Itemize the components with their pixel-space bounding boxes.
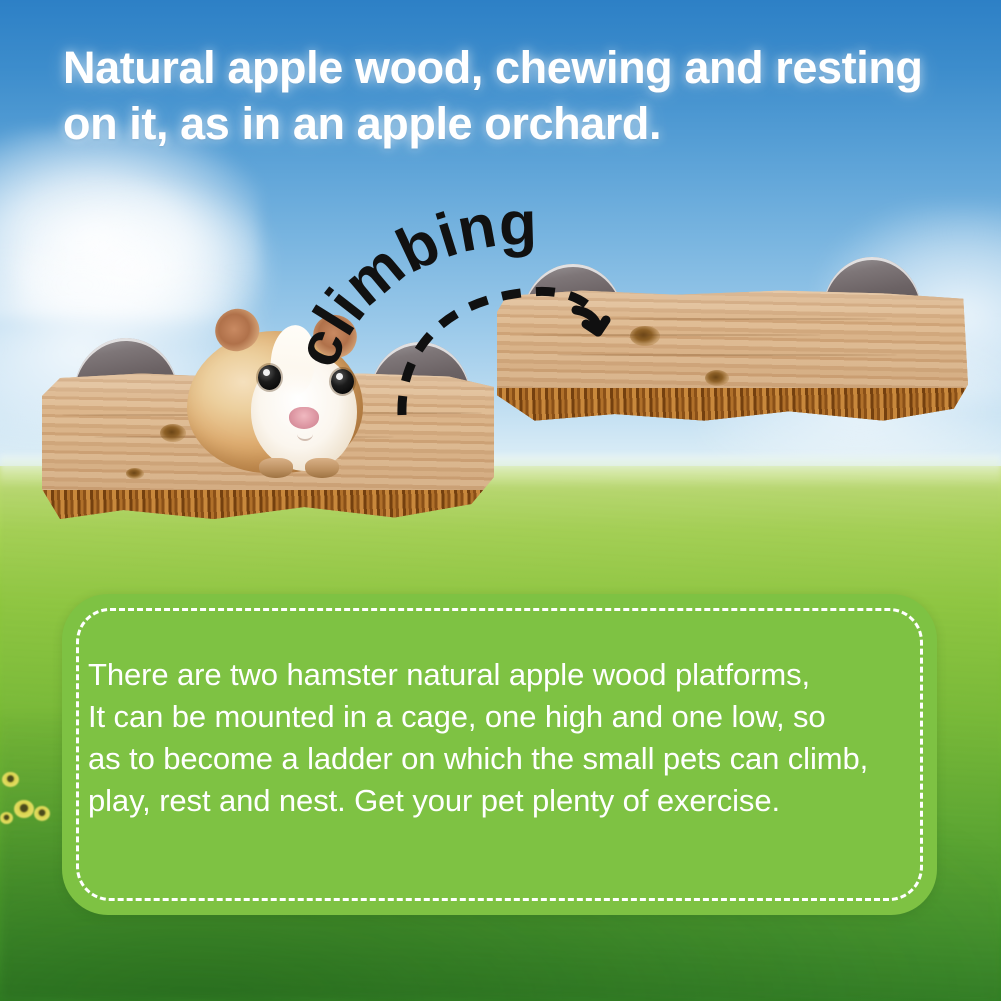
flower-icon bbox=[2, 772, 19, 787]
wood-knot bbox=[126, 468, 144, 479]
wood-knot bbox=[705, 370, 729, 386]
flower-icon bbox=[34, 806, 50, 821]
eye-highlight bbox=[263, 369, 270, 376]
guinea-pig-paw bbox=[305, 458, 339, 478]
guinea-pig-mouth bbox=[297, 427, 313, 441]
description-text: There are two hamster natural apple wood… bbox=[88, 654, 908, 822]
flower-icon bbox=[14, 800, 34, 818]
flower-icon bbox=[0, 812, 13, 824]
guinea-pig-paw bbox=[259, 458, 293, 478]
climbing-arrow-icon bbox=[380, 270, 630, 440]
page-title: Natural apple wood, chewing and resting … bbox=[63, 40, 963, 152]
product-marketing-image: Natural apple wood, chewing and resting … bbox=[0, 0, 1001, 1001]
wood-knot bbox=[160, 424, 186, 442]
description-box: There are two hamster natural apple wood… bbox=[62, 594, 937, 915]
guinea-pig-eye bbox=[258, 365, 281, 390]
guinea-pig-nose bbox=[289, 407, 319, 429]
